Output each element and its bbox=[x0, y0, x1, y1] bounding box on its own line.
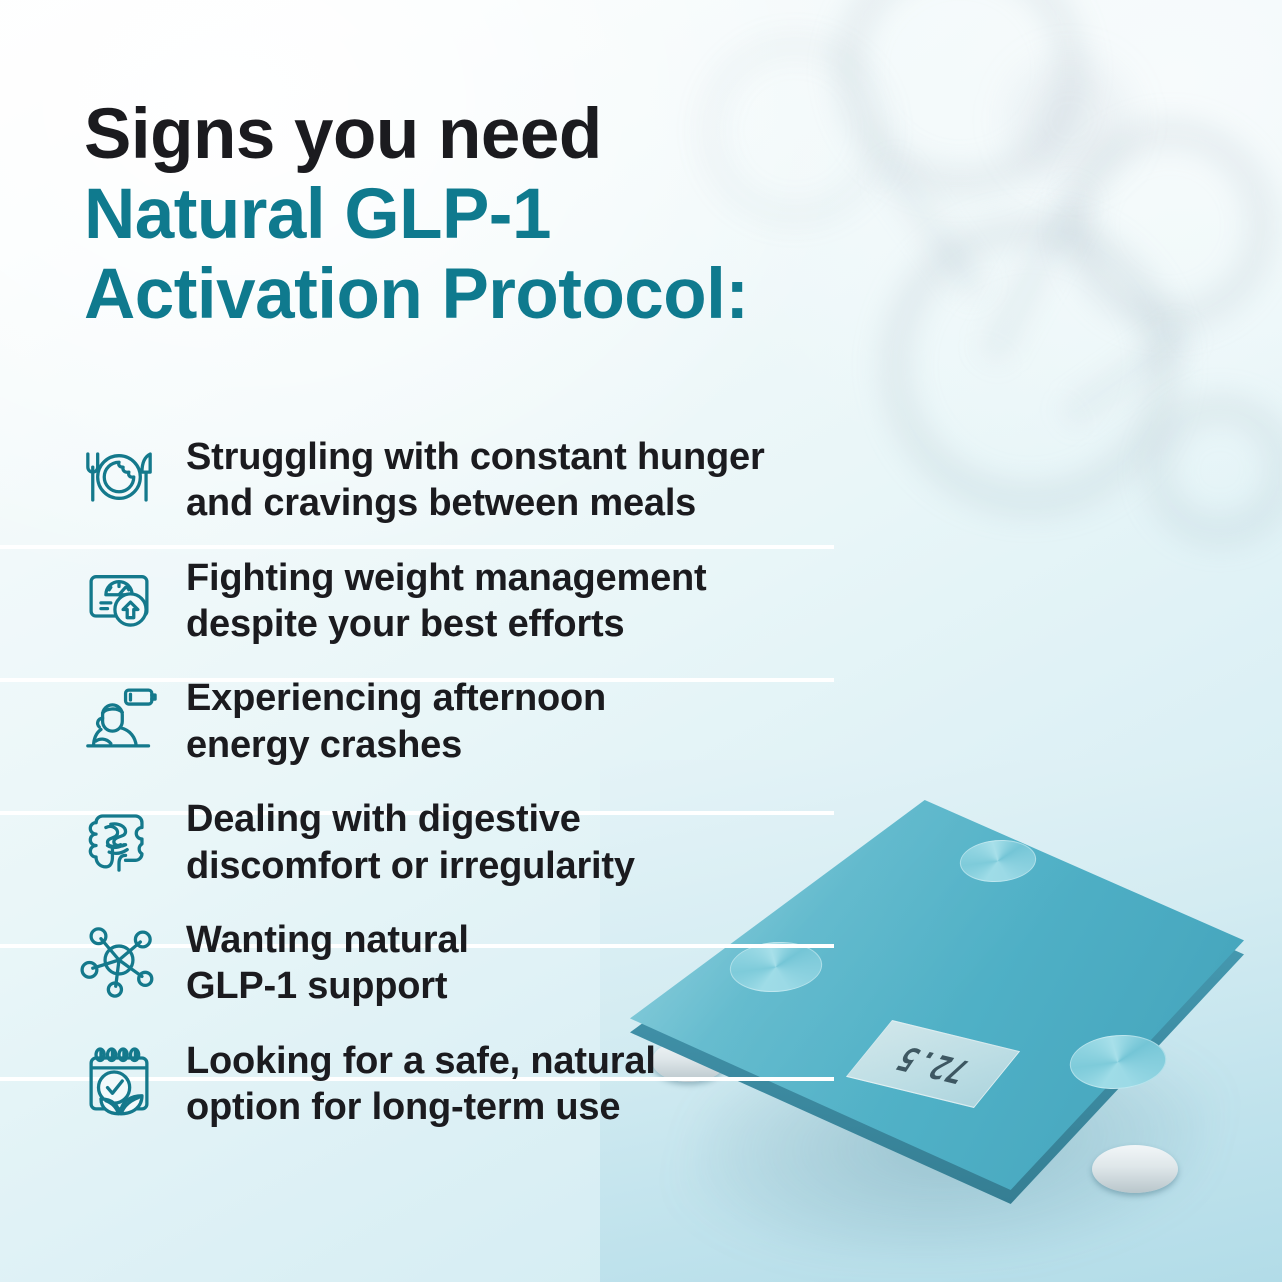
list-item: Dealing with digestive discomfort or irr… bbox=[76, 782, 934, 903]
signs-list: Struggling with constant hunger and crav… bbox=[76, 420, 934, 1144]
infographic-poster: 72.5 Signs you need Natural GLP-1 Activa… bbox=[0, 0, 1282, 1282]
bathroom-scale-up-arrow-icon bbox=[76, 555, 162, 641]
list-item: Looking for a safe, natural option for l… bbox=[76, 1024, 934, 1145]
list-item: Struggling with constant hunger and crav… bbox=[76, 420, 934, 541]
list-item-line-2: GLP-1 support bbox=[186, 965, 447, 1007]
plate-cutlery-icon bbox=[76, 434, 162, 520]
headline-line-2: Natural GLP-1 bbox=[84, 175, 984, 255]
list-item: Experiencing afternoon energy crashes bbox=[76, 661, 934, 782]
list-item-line-1: Fighting weight management bbox=[186, 557, 706, 599]
tired-person-low-battery-icon bbox=[76, 675, 162, 761]
background-blob bbox=[1145, 395, 1282, 545]
list-item-text: Struggling with constant hunger and crav… bbox=[186, 430, 765, 527]
list-item-line-1: Dealing with digestive bbox=[186, 798, 581, 840]
list-item-text: Looking for a safe, natural option for l… bbox=[186, 1034, 656, 1131]
list-item-line-2: despite your best efforts bbox=[186, 603, 624, 645]
scale-foot bbox=[1092, 1145, 1178, 1193]
headline-line-1: Signs you need bbox=[84, 95, 984, 175]
molecule-network-icon bbox=[76, 917, 162, 1003]
headline: Signs you need Natural GLP-1 Activation … bbox=[84, 95, 984, 336]
list-item-line-1: Wanting natural bbox=[186, 919, 469, 961]
list-item-line-1: Looking for a safe, natural bbox=[186, 1040, 656, 1082]
list-item: Wanting natural GLP-1 support bbox=[76, 903, 934, 1024]
list-item-line-2: discomfort or irregularity bbox=[186, 845, 635, 887]
background-blob bbox=[1010, 60, 1130, 180]
list-item-line-2: energy crashes bbox=[186, 724, 462, 766]
list-item-line-2: and cravings between meals bbox=[186, 482, 696, 524]
list-item-text: Dealing with digestive discomfort or irr… bbox=[186, 792, 635, 889]
list-item-text: Experiencing afternoon energy crashes bbox=[186, 671, 606, 768]
headline-line-3: Activation Protocol: bbox=[84, 255, 984, 335]
list-item-line-2: option for long-term use bbox=[186, 1086, 620, 1128]
list-item-text: Fighting weight management despite your … bbox=[186, 551, 706, 648]
background-bond bbox=[977, 185, 1091, 366]
calendar-check-leaf-icon bbox=[76, 1038, 162, 1124]
intestines-gut-icon bbox=[76, 796, 162, 882]
list-item-line-1: Experiencing afternoon bbox=[186, 677, 606, 719]
list-item: Fighting weight management despite your … bbox=[76, 541, 934, 662]
background-bond bbox=[1059, 322, 1196, 428]
background-blob bbox=[1065, 120, 1275, 330]
list-item-line-1: Struggling with constant hunger bbox=[186, 436, 765, 478]
list-item-text: Wanting natural GLP-1 support bbox=[186, 913, 469, 1010]
